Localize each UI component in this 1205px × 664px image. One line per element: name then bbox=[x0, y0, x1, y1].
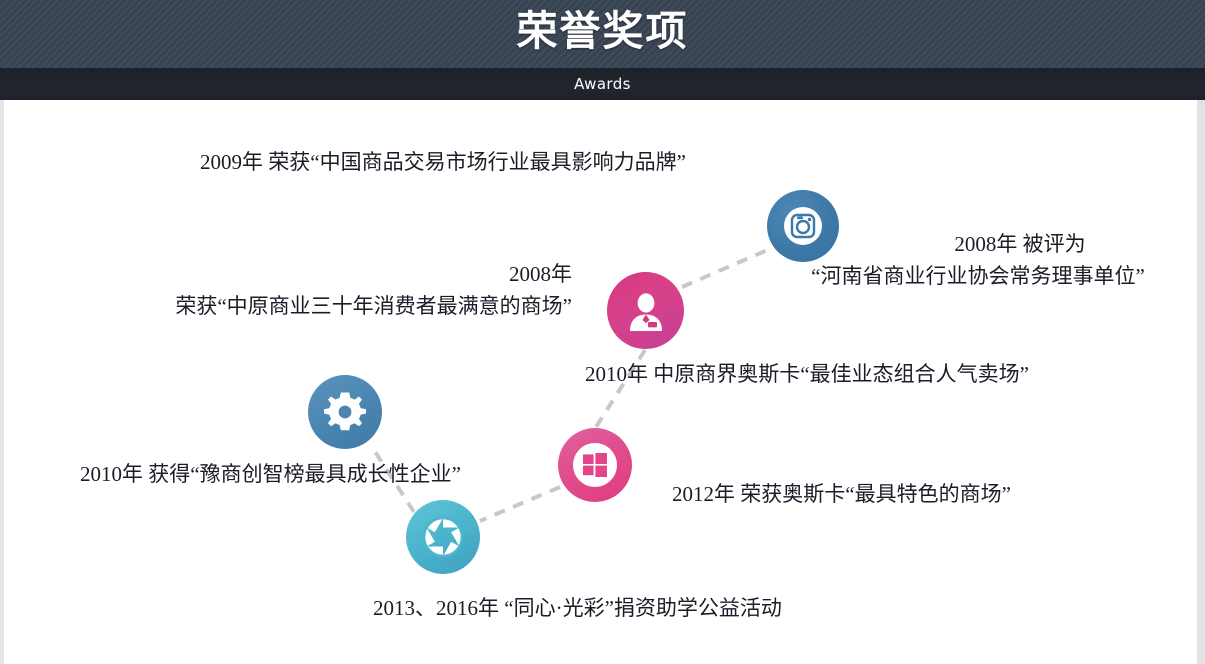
camera-shutter-icon bbox=[421, 515, 465, 559]
node-shutter[interactable] bbox=[406, 500, 480, 574]
node-gear[interactable] bbox=[308, 375, 382, 449]
slide-header-band: 荣誉奖项 bbox=[0, 0, 1205, 68]
award-caption-2008-right-line1: 2008年 被评为 bbox=[954, 232, 1085, 256]
businessman-person-icon bbox=[624, 289, 668, 333]
node-person[interactable] bbox=[607, 272, 684, 349]
windows-logo-icon bbox=[582, 452, 608, 478]
award-caption-2008-left-line2: 荣获“中原商业三十年消费者最满意的商场” bbox=[104, 290, 572, 322]
node-windows[interactable] bbox=[558, 428, 632, 502]
page-title: 荣誉奖项 bbox=[0, 4, 1205, 58]
award-caption-2010-right: 2010年 中原商界奥斯卡“最佳业态组合人气卖场” bbox=[585, 358, 1029, 390]
award-caption-2008-left: 2008年 荣获“中原商业三十年消费者最满意的商场” bbox=[104, 258, 572, 322]
award-caption-2009: 2009年 荣获“中国商品交易市场行业最具影响力品牌” bbox=[200, 146, 686, 178]
instagram-camera-icon bbox=[783, 206, 823, 246]
award-caption-2013: 2013、2016年 “同心·光彩”捐资助学公益活动 bbox=[373, 592, 782, 624]
gear-settings-icon bbox=[323, 390, 367, 434]
awards-slide: 荣誉奖项 Awards bbox=[0, 0, 1205, 664]
windows-ring-hole bbox=[573, 443, 617, 487]
award-caption-2008-left-line1: 2008年 bbox=[509, 262, 572, 286]
award-caption-2012: 2012年 荣获奥斯卡“最具特色的商场” bbox=[672, 478, 1011, 510]
award-caption-2008-right-line2: “河南省商业行业协会常务理事单位” bbox=[776, 260, 1180, 292]
page-subtitle: Awards bbox=[0, 68, 1205, 100]
node-instagram[interactable] bbox=[767, 190, 839, 262]
award-caption-2008-right: 2008年 被评为 “河南省商业行业协会常务理事单位” bbox=[860, 228, 1180, 292]
slide-subheader-band: Awards bbox=[0, 68, 1205, 100]
award-caption-2010-left: 2010年 获得“豫商创智榜最具成长性企业” bbox=[80, 458, 461, 490]
